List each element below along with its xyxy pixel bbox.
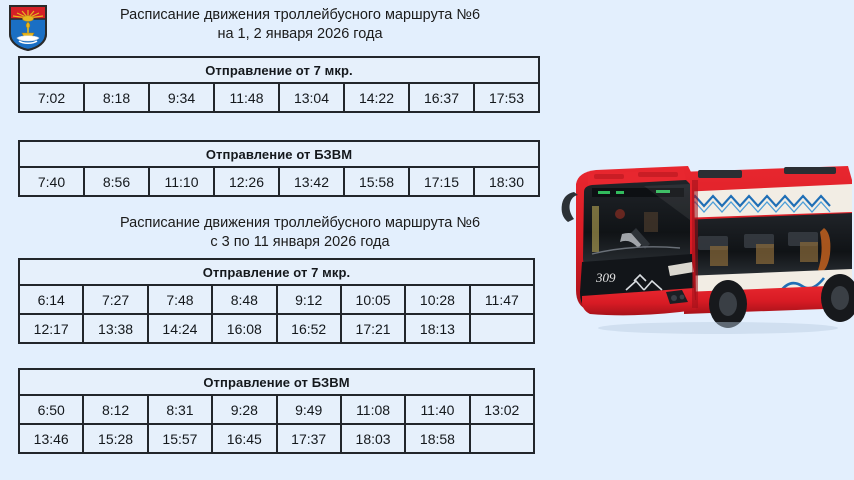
departure-time-cell: 15:57 <box>148 424 212 453</box>
fleet-number-text: 309 <box>595 270 616 285</box>
departure-time-cell: 18:03 <box>341 424 405 453</box>
departure-time-cell: 11:10 <box>149 167 214 196</box>
departure-table-7mkr-jan1-2: Отправление от 7 мкр.7:028:189:3411:4813… <box>18 56 540 113</box>
table-row: 6:508:128:319:289:4911:0811:4013:02 <box>19 395 534 424</box>
table-header-cell: Отправление от 7 мкр. <box>19 259 534 285</box>
departure-time-cell: 8:48 <box>212 285 276 314</box>
empty-cell <box>470 424 534 453</box>
table-header-cell: Отправление от БЗВМ <box>19 141 539 167</box>
table-header-cell: Отправление от 7 мкр. <box>19 57 539 83</box>
departure-time-cell: 16:45 <box>212 424 276 453</box>
departure-time-cell: 16:08 <box>212 314 276 343</box>
departure-time-cell: 16:37 <box>409 83 474 112</box>
departure-time-cell: 11:08 <box>341 395 405 424</box>
departure-time-cell: 16:52 <box>277 314 341 343</box>
table-header-row: Отправление от 7 мкр. <box>19 57 539 83</box>
empty-cell <box>470 314 534 343</box>
departure-time-cell: 12:26 <box>214 167 279 196</box>
departure-time-cell: 9:12 <box>277 285 341 314</box>
table-row: 7:028:189:3411:4813:0414:2216:3717:53 <box>19 83 539 112</box>
departure-table-7mkr-jan3-11: Отправление от 7 мкр.6:147:277:488:489:1… <box>18 258 535 344</box>
table-header-row: Отправление от БЗВМ <box>19 141 539 167</box>
departure-table-bzvm-jan3-11: Отправление от БЗВМ6:508:128:319:289:491… <box>18 368 535 454</box>
title-1-line-2: на 1, 2 января 2026 года <box>56 25 544 44</box>
departure-time-cell: 10:05 <box>341 285 405 314</box>
departure-time-cell: 11:40 <box>405 395 469 424</box>
table-row: 6:147:277:488:489:1210:0510:2811:47 <box>19 285 534 314</box>
departure-time-cell: 14:22 <box>344 83 409 112</box>
departure-time-cell: 7:48 <box>148 285 212 314</box>
departure-time-cell: 13:46 <box>19 424 83 453</box>
departure-time-cell: 17:15 <box>409 167 474 196</box>
departure-time-cell: 6:14 <box>19 285 83 314</box>
table-row: 13:4615:2815:5716:4517:3718:0318:58 <box>19 424 534 453</box>
departure-time-cell: 17:53 <box>474 83 539 112</box>
departure-time-cell: 11:48 <box>214 83 279 112</box>
table-header-row: Отправление от 7 мкр. <box>19 259 534 285</box>
departure-time-cell: 7:27 <box>83 285 147 314</box>
schedule-title-2: Расписание движения троллейбусного маршр… <box>56 214 544 252</box>
departure-time-cell: 13:38 <box>83 314 147 343</box>
table-header-cell: Отправление от БЗВМ <box>19 369 534 395</box>
murmansk-coat-of-arms-emblem <box>8 4 48 52</box>
departure-time-cell: 15:58 <box>344 167 409 196</box>
title-1-line-1: Расписание движения троллейбусного маршр… <box>56 6 544 25</box>
departure-time-cell: 13:04 <box>279 83 344 112</box>
departure-time-cell: 18:58 <box>405 424 469 453</box>
departure-time-cell: 10:28 <box>405 285 469 314</box>
departure-time-cell: 8:56 <box>84 167 149 196</box>
table-row: 7:408:5611:1012:2613:4215:5817:1518:30 <box>19 167 539 196</box>
table-row: 12:1713:3814:2416:0816:5217:2118:13 <box>19 314 534 343</box>
title-2-line-1: Расписание движения троллейбусного маршр… <box>56 214 544 233</box>
departure-table-bzvm-jan1-2: Отправление от БЗВМ7:408:5611:1012:2613:… <box>18 140 540 197</box>
departure-time-cell: 13:42 <box>279 167 344 196</box>
departure-time-cell: 8:31 <box>148 395 212 424</box>
departure-time-cell: 6:50 <box>19 395 83 424</box>
departure-time-cell: 9:34 <box>149 83 214 112</box>
departure-time-cell: 17:37 <box>277 424 341 453</box>
departure-time-cell: 15:28 <box>83 424 147 453</box>
departure-time-cell: 7:02 <box>19 83 84 112</box>
table-header-row: Отправление от БЗВМ <box>19 369 534 395</box>
departure-time-cell: 17:21 <box>341 314 405 343</box>
departure-time-cell: 12:17 <box>19 314 83 343</box>
departure-time-cell: 9:49 <box>277 395 341 424</box>
departure-time-cell: 13:02 <box>470 395 534 424</box>
departure-time-cell: 18:13 <box>405 314 469 343</box>
schedule-poster: Расписание движения троллейбусного маршр… <box>0 0 854 480</box>
departure-time-cell: 11:47 <box>470 285 534 314</box>
schedule-title-1: Расписание движения троллейбусного маршр… <box>56 6 544 44</box>
departure-time-cell: 8:18 <box>84 83 149 112</box>
trolleybus-photo: 309 <box>548 150 854 338</box>
departure-time-cell: 7:40 <box>19 167 84 196</box>
departure-time-cell: 9:28 <box>212 395 276 424</box>
departure-time-cell: 18:30 <box>474 167 539 196</box>
departure-time-cell: 8:12 <box>83 395 147 424</box>
departure-time-cell: 14:24 <box>148 314 212 343</box>
title-2-line-2: с 3 по 11 января 2026 года <box>56 233 544 252</box>
